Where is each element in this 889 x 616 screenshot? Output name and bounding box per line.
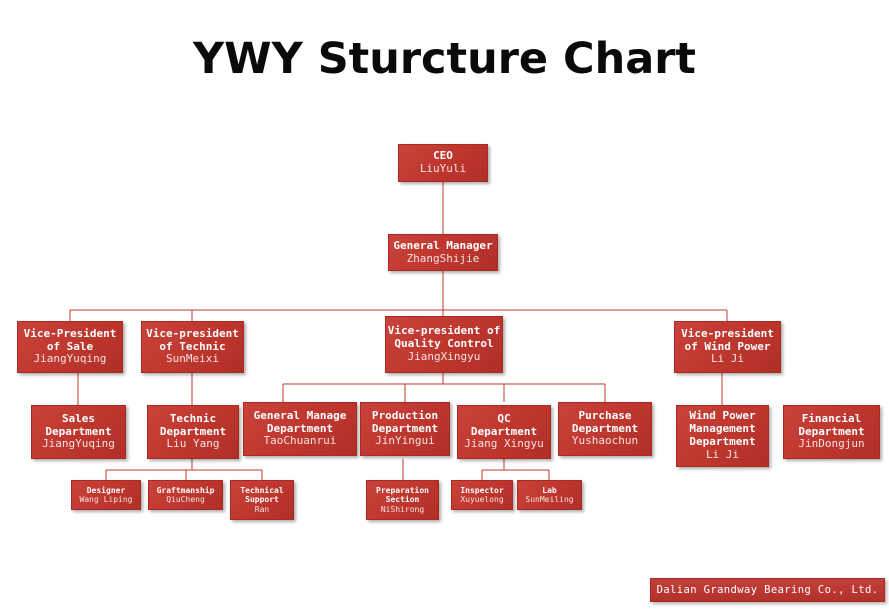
company-footer-label: Dalian Grandway Bearing Co., Ltd. [657,584,879,596]
node-lab-line1: Lab [542,486,556,495]
node-vp-sale[interactable]: Vice-President of Sale JiangYuqing [17,321,123,373]
node-purchase-department-line1: Purchase [579,410,632,423]
node-technical-support[interactable]: Technical Support Ran [230,480,294,520]
node-designer-person: Wang Liping [80,495,133,504]
node-production-department[interactable]: Production Department JinYingui [360,402,450,456]
node-sales-department-line1: Sales [62,413,95,426]
node-general-manage-department-person: TaoChuanrui [264,435,337,448]
node-qc-department[interactable]: QC Department Jiang Xingyu [457,405,551,459]
node-preparation-section-person: NiShirong [381,505,424,514]
node-qc-department-person: Jiang Xingyu [464,438,543,451]
node-vp-wind-power-line1: Vice-president [681,328,774,341]
node-preparation-section-line1: Preparation [376,486,429,495]
node-sales-department[interactable]: Sales Department JiangYuqing [31,405,126,459]
node-vp-technic-line1: Vice-president [146,328,239,341]
node-financial-department-line1: Financial [802,413,862,426]
node-financial-department-person: JinDongjun [798,438,864,451]
node-wind-power-management-department[interactable]: Wind Power Management Department Li Ji [676,405,769,467]
node-inspector-person: Xuyuelong [460,495,503,504]
node-vp-technic-person: SunMeixi [166,353,219,366]
node-designer-line1: Designer [87,486,126,495]
node-production-department-line1: Production [372,410,438,423]
node-vp-wind-power[interactable]: Vice-president of Wind Power Li Ji [674,321,781,373]
connector-lines [0,0,889,616]
node-general-manage-department[interactable]: General Manage Department TaoChuanrui [243,402,357,456]
node-preparation-section-line2: Section [386,495,420,504]
org-chart-canvas: YWY Sturcture Chart [0,0,889,616]
node-technical-support-line1: Technical [240,486,283,495]
node-wind-power-management-department-person: Li Ji [706,449,739,462]
node-ceo-person: LiuYuli [420,163,466,176]
node-designer[interactable]: Designer Wang Liping [71,480,141,510]
node-graftmanship-line1: Graftmanship [157,486,215,495]
node-vp-quality-control[interactable]: Vice-president of Quality Control JiangX… [385,316,503,373]
node-graftmanship-person: QiuCheng [166,495,205,504]
node-general-manager[interactable]: General Manager ZhangShijie [388,234,498,271]
node-technical-support-line2: Support [245,495,279,504]
node-lab-person: SunMeiling [525,495,573,504]
page-title: YWY Sturcture Chart [0,34,889,84]
node-ceo[interactable]: CEO LiuYuli [398,144,488,182]
node-graftmanship[interactable]: Graftmanship QiuCheng [148,480,223,510]
node-vp-quality-control-person: JiangXingyu [408,351,481,364]
node-purchase-department[interactable]: Purchase Department Yushaochun [558,402,652,456]
node-qc-department-line1: QC [497,413,510,426]
node-production-department-person: JinYingui [375,435,435,448]
node-inspector[interactable]: Inspector Xuyuelong [451,480,513,510]
node-inspector-line1: Inspector [460,486,503,495]
node-technic-department[interactable]: Technic Department Liu Yang [147,405,239,459]
node-technical-support-person: Ran [255,505,269,514]
node-preparation-section[interactable]: Preparation Section NiShirong [366,480,439,520]
node-general-manager-role: General Manager [393,240,492,253]
company-footer-bar: Dalian Grandway Bearing Co., Ltd. [650,578,885,602]
node-vp-wind-power-person: Li Ji [711,353,744,366]
node-vp-technic[interactable]: Vice-president of Technic SunMeixi [141,321,244,373]
node-technic-department-person: Liu Yang [167,438,220,451]
node-vp-sale-person: JiangYuqing [34,353,107,366]
node-vp-sale-line1: Vice-President [24,328,117,341]
node-technic-department-line1: Technic [170,413,216,426]
node-lab[interactable]: Lab SunMeiling [517,480,582,510]
node-general-manage-department-line1: General Manage [254,410,347,423]
node-general-manager-person: ZhangShijie [407,253,480,266]
node-purchase-department-person: Yushaochun [572,435,638,448]
node-sales-department-person: JiangYuqing [42,438,115,451]
node-financial-department[interactable]: Financial Department JinDongjun [783,405,880,459]
